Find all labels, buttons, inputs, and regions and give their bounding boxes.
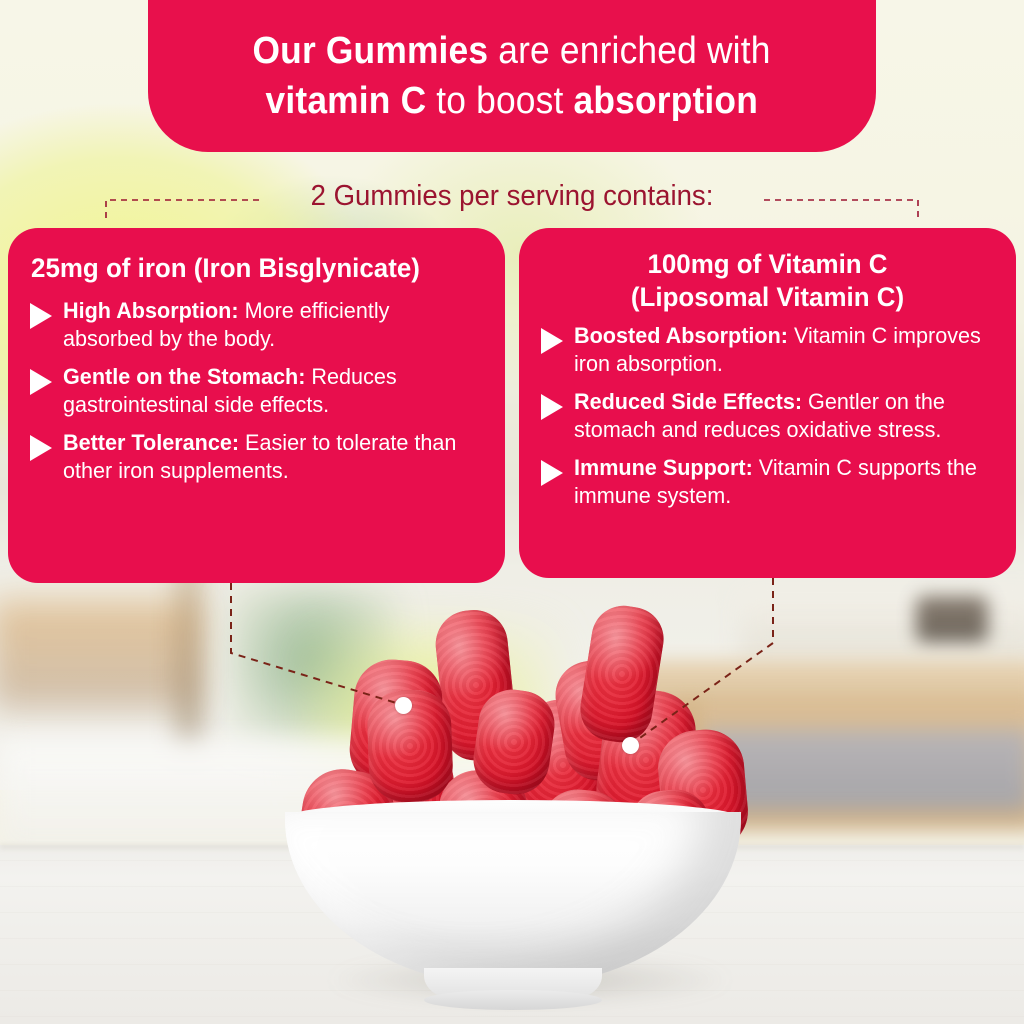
triangle-bullet-icon <box>541 328 563 354</box>
window-frame-blur <box>0 600 200 710</box>
list-item: Better Tolerance: Easier to tolerate tha… <box>30 429 491 485</box>
header-line-2-regular: to boost <box>427 80 574 122</box>
header-line-1-bold: Our Gummies <box>253 30 489 72</box>
list-item: Immune Support: Vitamin C supports the i… <box>541 454 1002 510</box>
list-item: Reduced Side Effects: Gentler on the sto… <box>541 388 1002 444</box>
callout-dot-right <box>622 737 639 754</box>
bullet-text: Gentle on the Stomach: Reduces gastroint… <box>63 363 474 419</box>
list-item: Boosted Absorption: Vitamin C improves i… <box>541 322 1002 378</box>
card-iron-title: 25mg of iron (Iron Bisglynicate) <box>8 228 485 285</box>
infographic-root: Our Gummies are enriched with vitamin C … <box>0 0 1024 1024</box>
triangle-bullet-icon <box>541 460 563 486</box>
serving-label: 2 Gummies per serving contains: <box>26 178 999 214</box>
header-banner: Our Gummies are enriched with vitamin C … <box>148 0 876 152</box>
header-line-2-bold-a: vitamin C <box>266 80 427 122</box>
header-line-1-regular: are enriched with <box>489 30 771 72</box>
header-line-1: Our Gummies are enriched with <box>253 26 771 76</box>
triangle-bullet-icon <box>30 435 52 461</box>
bullet-lead: Better Tolerance: <box>63 430 239 455</box>
table-panel-blur <box>700 730 1024 810</box>
triangle-bullet-icon <box>30 369 52 395</box>
triangle-bullet-icon <box>541 394 563 420</box>
card-vitamin-c-title-line-2: (Liposomal Vitamin C) <box>548 281 987 314</box>
list-item: Gentle on the Stomach: Reduces gastroint… <box>30 363 491 419</box>
bullet-lead: Boosted Absorption: <box>574 323 788 348</box>
header-line-2: vitamin C to boost absorption <box>266 76 758 126</box>
card-vitamin-c-title-line-1: 100mg of Vitamin C <box>548 248 987 281</box>
bullet-lead: Reduced Side Effects: <box>574 389 802 414</box>
bullet-lead: Immune Support: <box>574 455 753 480</box>
window-post-blur <box>176 560 202 750</box>
bowl-foot-base <box>424 990 602 1010</box>
bullet-text: Boosted Absorption: Vitamin C improves i… <box>574 322 985 378</box>
list-item: High Absorption: More efficiently absorb… <box>30 297 491 353</box>
bullet-text: High Absorption: More efficiently absorb… <box>63 297 474 353</box>
triangle-bullet-icon <box>30 303 52 329</box>
bullet-text: Reduced Side Effects: Gentler on the sto… <box>574 388 985 444</box>
header-line-2-bold-b: absorption <box>574 80 758 122</box>
card-iron: 25mg of iron (Iron Bisglynicate) High Ab… <box>8 228 505 583</box>
dark-pot-blur <box>916 596 988 642</box>
card-vitamin-c-bullets: Boosted Absorption: Vitamin C improves i… <box>519 314 1016 510</box>
bullet-text: Better Tolerance: Easier to tolerate tha… <box>63 429 474 485</box>
bullet-text: Immune Support: Vitamin C supports the i… <box>574 454 985 510</box>
card-vitamin-c: 100mg of Vitamin C (Liposomal Vitamin C)… <box>519 228 1016 578</box>
callout-dot-left <box>395 697 412 714</box>
bullet-lead: Gentle on the Stomach: <box>63 364 305 389</box>
bullet-lead: High Absorption: <box>63 298 239 323</box>
card-iron-bullets: High Absorption: More efficiently absorb… <box>8 285 505 485</box>
card-vitamin-c-title: 100mg of Vitamin C (Liposomal Vitamin C) <box>529 228 1006 314</box>
